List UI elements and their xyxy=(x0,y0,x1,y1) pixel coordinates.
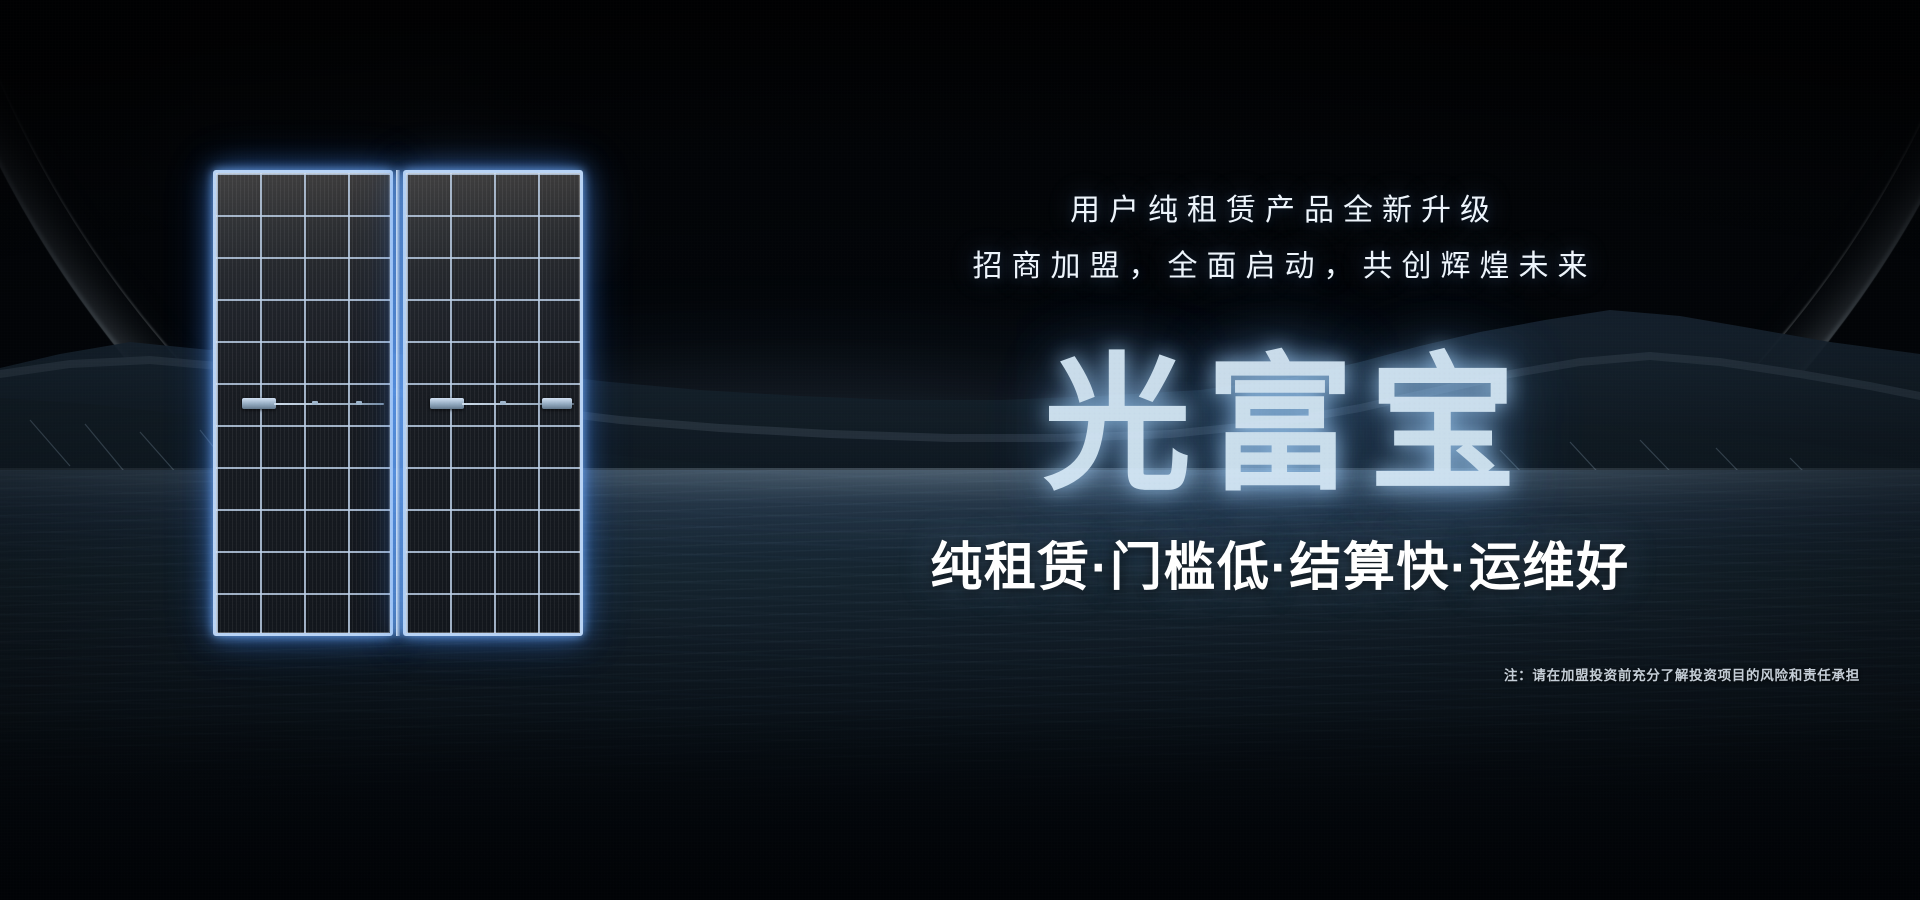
brand-title-text: 光富宝 xyxy=(1043,352,1531,500)
solar-module-right xyxy=(403,170,583,636)
headline-line-1: 用户纯租赁产品全新升级 xyxy=(709,196,1860,226)
junction-box xyxy=(542,398,572,409)
junction-cable xyxy=(274,403,384,405)
promotional-banner: 用户纯租赁产品全新升级 招商加盟，全面启动，共创辉煌未来 光富宝 纯租赁·门槛低… xyxy=(0,0,1920,900)
solar-module-left xyxy=(213,170,393,636)
cable-clip-icon xyxy=(500,401,506,405)
junction-box xyxy=(430,398,464,409)
brand-title: 光富宝 xyxy=(700,352,1860,500)
cable-clip-icon xyxy=(356,401,362,405)
junction-box xyxy=(242,398,276,409)
panel-center-rail xyxy=(396,170,400,636)
headline-block: 用户纯租赁产品全新升级 招商加盟，全面启动，共创辉煌未来 xyxy=(700,196,1860,282)
bottom-fade-overlay xyxy=(0,710,1920,900)
disclaimer-note: 注：请在加盟投资前充分了解投资项目的风险和责任承担 xyxy=(1504,664,1860,684)
cable-clip-icon xyxy=(312,401,318,405)
solar-panel-product xyxy=(213,170,583,636)
headline-line-2: 招商加盟，全面启动，共创辉煌未来 xyxy=(709,252,1860,282)
slogan-text: 纯租赁·门槛低·结算快·运维好 xyxy=(700,542,1860,594)
